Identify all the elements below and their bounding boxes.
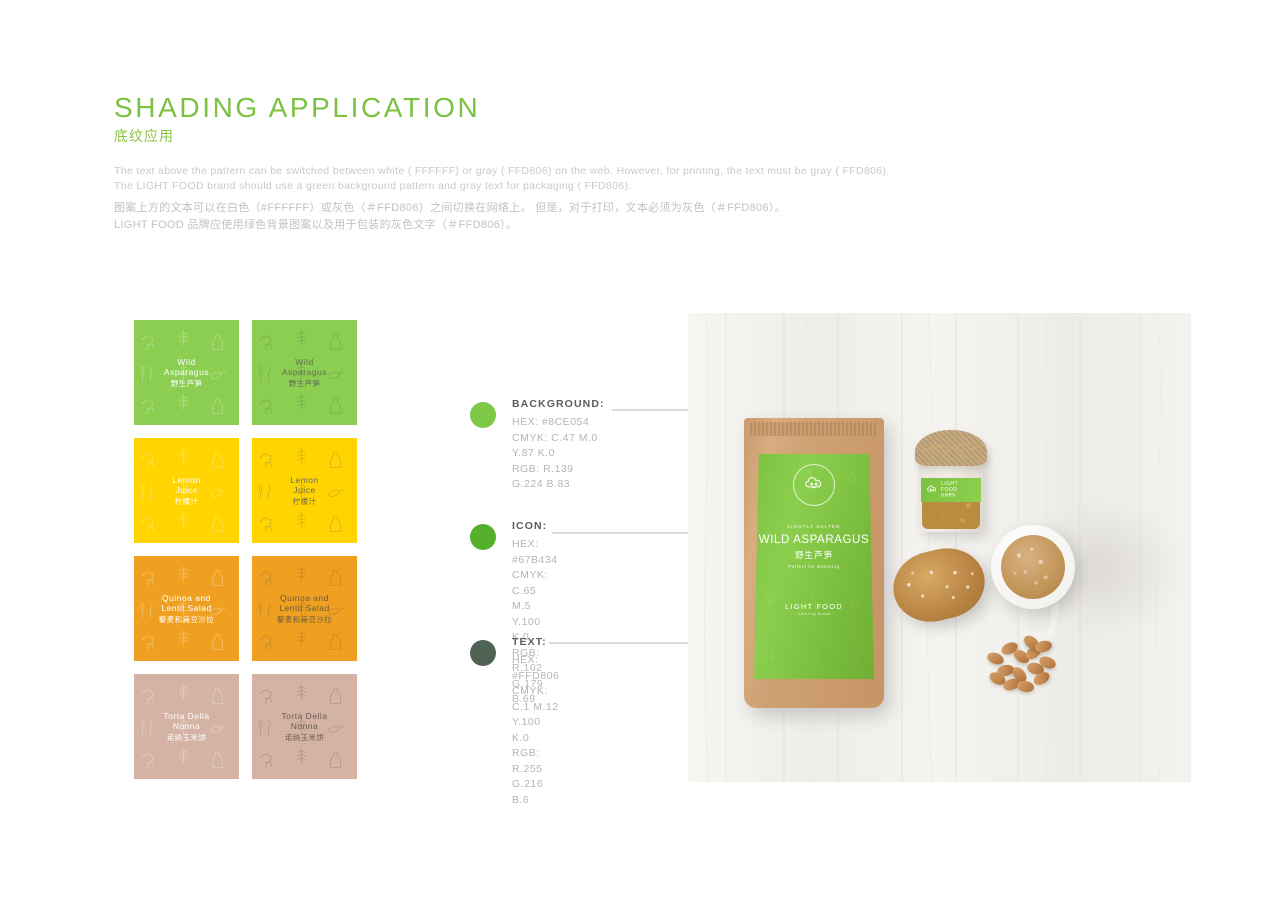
tile-label-en-line1: Torta Della [281, 711, 327, 722]
coffee-liquid [1001, 535, 1065, 599]
pattern-tile: LemonJuice柠檬汁 [134, 438, 239, 543]
tile-label-zh: 野生芦笋 [282, 379, 327, 388]
cup-body [991, 525, 1075, 609]
bag-green-label: LIGHTLY SALTED WILD ASPARAGUS 野生芦笋 Perfe… [754, 454, 874, 686]
pattern-tile: Quinoa andLentil Salad藜麦和扁豆沙拉 [134, 556, 239, 661]
jar-brand-zh: 轻食餐饮 [941, 494, 958, 498]
tile-label-en-line2: Nonna [163, 721, 209, 732]
tile-label: Quinoa andLentil Salad藜麦和扁豆沙拉 [271, 593, 338, 625]
almond-cluster [983, 635, 1063, 693]
color-spec-name: BACKGROUND: [512, 398, 605, 410]
tile-label-en-line2: Asparagus [164, 367, 209, 378]
tile-label-en-line1: Torta Della [163, 711, 209, 722]
bag-product-name-zh: 野生芦笋 [754, 549, 874, 561]
color-spec-cmyk: CMYK: C.47 M.0 Y.87 K.0 [512, 431, 605, 462]
page-subtitle: 底纹应用 [114, 126, 480, 146]
pattern-tile: Torta DellaNonna诺纳玉米饼 [134, 674, 239, 779]
coffee-foam [1001, 535, 1065, 599]
bag-brand-sub: Catering Brand [754, 612, 874, 616]
pattern-tile: WildAsparagus野生芦笋 [134, 320, 239, 425]
tile-label-zh: 诺纳玉米饼 [281, 733, 327, 742]
bag-brand-name: LIGHT FOOD [754, 602, 874, 611]
bag-top-crimp [750, 422, 878, 436]
bag-brand-badge [793, 464, 835, 506]
color-spec-cmyk: CMYK: C.65 M.5 Y.100 K.0 [512, 568, 558, 646]
almond [1016, 680, 1034, 693]
jar-twine-bow [917, 442, 985, 458]
tile-label-en-line2: Nonna [281, 721, 327, 732]
tile-label-en-line1: Quinoa and [159, 593, 214, 604]
description-line-en-1: The text above the pattern can be switch… [114, 164, 1044, 179]
tile-label-zh: 诺纳玉米饼 [163, 733, 209, 742]
page-title: SHADING APPLICATION [114, 93, 480, 122]
pattern-tile: Quinoa andLentil Salad藜麦和扁豆沙拉 [252, 556, 357, 661]
color-swatch [470, 524, 496, 550]
color-spec-hex: HEX: #67B434 [512, 537, 558, 568]
tile-label-en-line2: Juice [290, 485, 319, 496]
tile-label-en-line2: Asparagus [282, 367, 327, 378]
pattern-tile: Torta DellaNonna诺纳玉米饼 [252, 674, 357, 779]
tile-label: Torta DellaNonna诺纳玉米饼 [157, 711, 215, 743]
description-line-zh-2: LIGHT FOOD 品牌应使用绿色背景图案以及用于包装的灰色文字（＃FFD80… [114, 217, 1044, 234]
tile-label: WildAsparagus野生芦笋 [276, 357, 333, 389]
tile-label-en-line1: Lemon [172, 475, 201, 486]
tile-label: Torta DellaNonna诺纳玉米饼 [275, 711, 333, 743]
color-spec-cmyk: CMYK: C.1 M.12 Y.100 K.0 [512, 684, 559, 746]
tile-label: Quinoa andLentil Salad藜麦和扁豆沙拉 [153, 593, 220, 625]
color-swatch [470, 640, 496, 666]
tile-label-en-line2: Lentil Salad [277, 603, 332, 614]
tile-label-zh: 藜麦和扁豆沙拉 [277, 615, 332, 624]
color-spec: TEXT:HEX: #FFD806CMYK: C.1 M.12 Y.100 K.… [470, 636, 559, 808]
tile-label-en-line1: Wild [164, 357, 209, 368]
coffee-cup [991, 525, 1075, 609]
color-spec: BACKGROUND:HEX: #8CE054CMYK: C.47 M.0 Y.… [470, 398, 605, 493]
tile-label-en-line1: Lemon [290, 475, 319, 486]
tile-label: LemonJuice柠檬汁 [166, 475, 207, 507]
product-jar: LIGHT FOOD 轻食餐饮 [915, 426, 987, 534]
leaf-cloud-logo-icon [926, 484, 938, 496]
tile-label: WildAsparagus野生芦笋 [158, 357, 215, 389]
description-block: The text above the pattern can be switch… [114, 164, 1044, 234]
bag-product-name-en: WILD ASPARAGUS [754, 534, 874, 546]
tile-label-en-line1: Wild [282, 357, 327, 368]
tile-label: LemonJuice柠檬汁 [284, 475, 325, 507]
jar-label: LIGHT FOOD 轻食餐饮 [921, 478, 981, 502]
tile-label-zh: 柠檬汁 [290, 497, 319, 506]
color-spec-hex: HEX: #FFD806 [512, 653, 559, 684]
pattern-tile: LemonJuice柠檬汁 [252, 438, 357, 543]
leaf-cloud-logo-icon [803, 474, 825, 496]
tile-label-en-line1: Quinoa and [277, 593, 332, 604]
pattern-tile: WildAsparagus野生芦笋 [252, 320, 357, 425]
bag-tagline: Perfect for Snacking [754, 564, 874, 569]
product-photo: LIGHTLY SALTED WILD ASPARAGUS 野生芦笋 Perfe… [688, 313, 1191, 782]
color-spec-hex: HEX: #8CE054 [512, 415, 605, 431]
color-spec-rgb: RGB: R.255 G.216 B.6 [512, 746, 559, 808]
color-spec-rgb: RGB: R.139 G.224 B.83 [512, 462, 605, 493]
bag-kicker: LIGHTLY SALTED [754, 524, 874, 529]
tile-label-en-line2: Juice [172, 485, 201, 496]
tile-label-zh: 柠檬汁 [172, 497, 201, 506]
pattern-tile-grid: WildAsparagus野生芦笋WildAsparagus野生芦笋LemonJ… [134, 320, 357, 779]
product-bag: LIGHTLY SALTED WILD ASPARAGUS 野生芦笋 Perfe… [744, 418, 884, 708]
tile-label-zh: 野生芦笋 [164, 379, 209, 388]
description-line-zh-1: 图案上方的文本可以在白色（#FFFFFF）或灰色（＃FFD806）之间切换在网络… [114, 200, 1044, 217]
tile-label-zh: 藜麦和扁豆沙拉 [159, 615, 214, 624]
slide-canvas: SHADING APPLICATION 底纹应用 The text above … [0, 0, 1280, 905]
color-spec-name: TEXT: [512, 636, 559, 648]
color-spec-name: ICON: [512, 520, 558, 532]
description-line-en-2: The LIGHT FOOD brand should use a green … [114, 179, 1044, 194]
page-title-block: SHADING APPLICATION 底纹应用 [114, 93, 480, 146]
tile-label-en-line2: Lentil Salad [159, 603, 214, 614]
color-swatch [470, 402, 496, 428]
